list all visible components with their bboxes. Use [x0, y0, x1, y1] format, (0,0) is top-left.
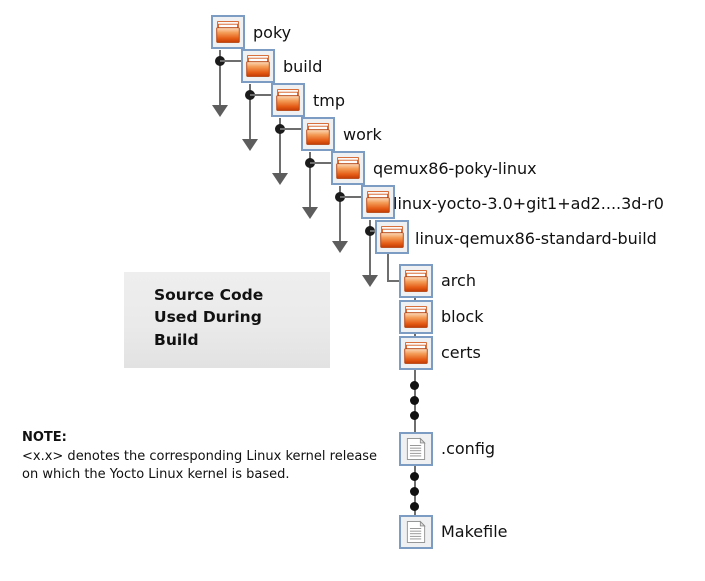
folder-icon-work[interactable]: [301, 117, 335, 151]
connector-vline-standardbuild: [387, 254, 389, 282]
folder-icon: [403, 340, 429, 366]
folder-icon-tmp[interactable]: [271, 83, 305, 117]
source-code-box: Source Code Used During Build: [124, 272, 330, 368]
folder-icon-block[interactable]: [399, 300, 433, 334]
note-body: <x.x> denotes the corresponding Linux ke…: [22, 448, 382, 486]
node-label-poky: poky: [253, 25, 291, 41]
folder-icon-linux-qemux86-standard-build[interactable]: [375, 220, 409, 254]
ellipsis-dot-5: [410, 487, 419, 496]
document-icon-config[interactable]: [399, 432, 433, 466]
folder-icon: [403, 304, 429, 330]
node-label-config: .config: [441, 441, 495, 457]
folder-icon: [275, 87, 301, 113]
node-label-certs: certs: [441, 345, 481, 361]
node-label-linux-yocto: linux-yocto-3.0+git1+ad2....3d-r0: [393, 196, 664, 212]
ellipsis-dot-1: [410, 381, 419, 390]
node-label-work: work: [343, 127, 382, 143]
folder-icon: [379, 224, 405, 250]
node-label-tmp: tmp: [313, 93, 345, 109]
ellipsis-dot-6: [410, 502, 419, 511]
folder-icon-qemux86-poky-linux[interactable]: [331, 151, 365, 185]
document-icon: [403, 519, 429, 545]
folder-icon: [215, 19, 241, 45]
source-code-box-text: Source Code Used During Build: [154, 284, 263, 351]
node-label-arch: arch: [441, 273, 476, 289]
folder-icon: [245, 53, 271, 79]
diagram-canvas: poky build tmp work: [0, 0, 705, 581]
note-title: NOTE:: [22, 430, 382, 446]
node-label-linux-qemux86-standard-build: linux-qemux86-standard-build: [415, 231, 657, 247]
ellipsis-dot-2: [410, 396, 419, 405]
folder-icon-certs[interactable]: [399, 336, 433, 370]
folder-icon: [305, 121, 331, 147]
arrow-linuxyocto: [362, 275, 378, 287]
folder-icon: [335, 155, 361, 181]
ellipsis-dot-4: [410, 472, 419, 481]
node-label-block: block: [441, 309, 483, 325]
arrow-qemux86: [332, 241, 348, 253]
ellipsis-dot-3: [410, 411, 419, 420]
folder-icon-poky[interactable]: [211, 15, 245, 49]
node-label-build: build: [283, 59, 322, 75]
folder-icon: [403, 268, 429, 294]
folder-icon-arch[interactable]: [399, 264, 433, 298]
node-label-qemux86-poky-linux: qemux86-poky-linux: [373, 161, 537, 177]
document-icon-makefile[interactable]: [399, 515, 433, 549]
folder-icon: [365, 189, 391, 215]
node-label-makefile: Makefile: [441, 524, 508, 540]
arrow-poky: [212, 105, 228, 117]
folder-icon-linux-yocto[interactable]: [361, 185, 395, 219]
note-block: NOTE: <x.x> denotes the corresponding Li…: [22, 430, 382, 485]
arrow-work: [302, 207, 318, 219]
folder-icon-build[interactable]: [241, 49, 275, 83]
document-icon: [403, 436, 429, 462]
arrow-tmp: [272, 173, 288, 185]
arrow-build: [242, 139, 258, 151]
